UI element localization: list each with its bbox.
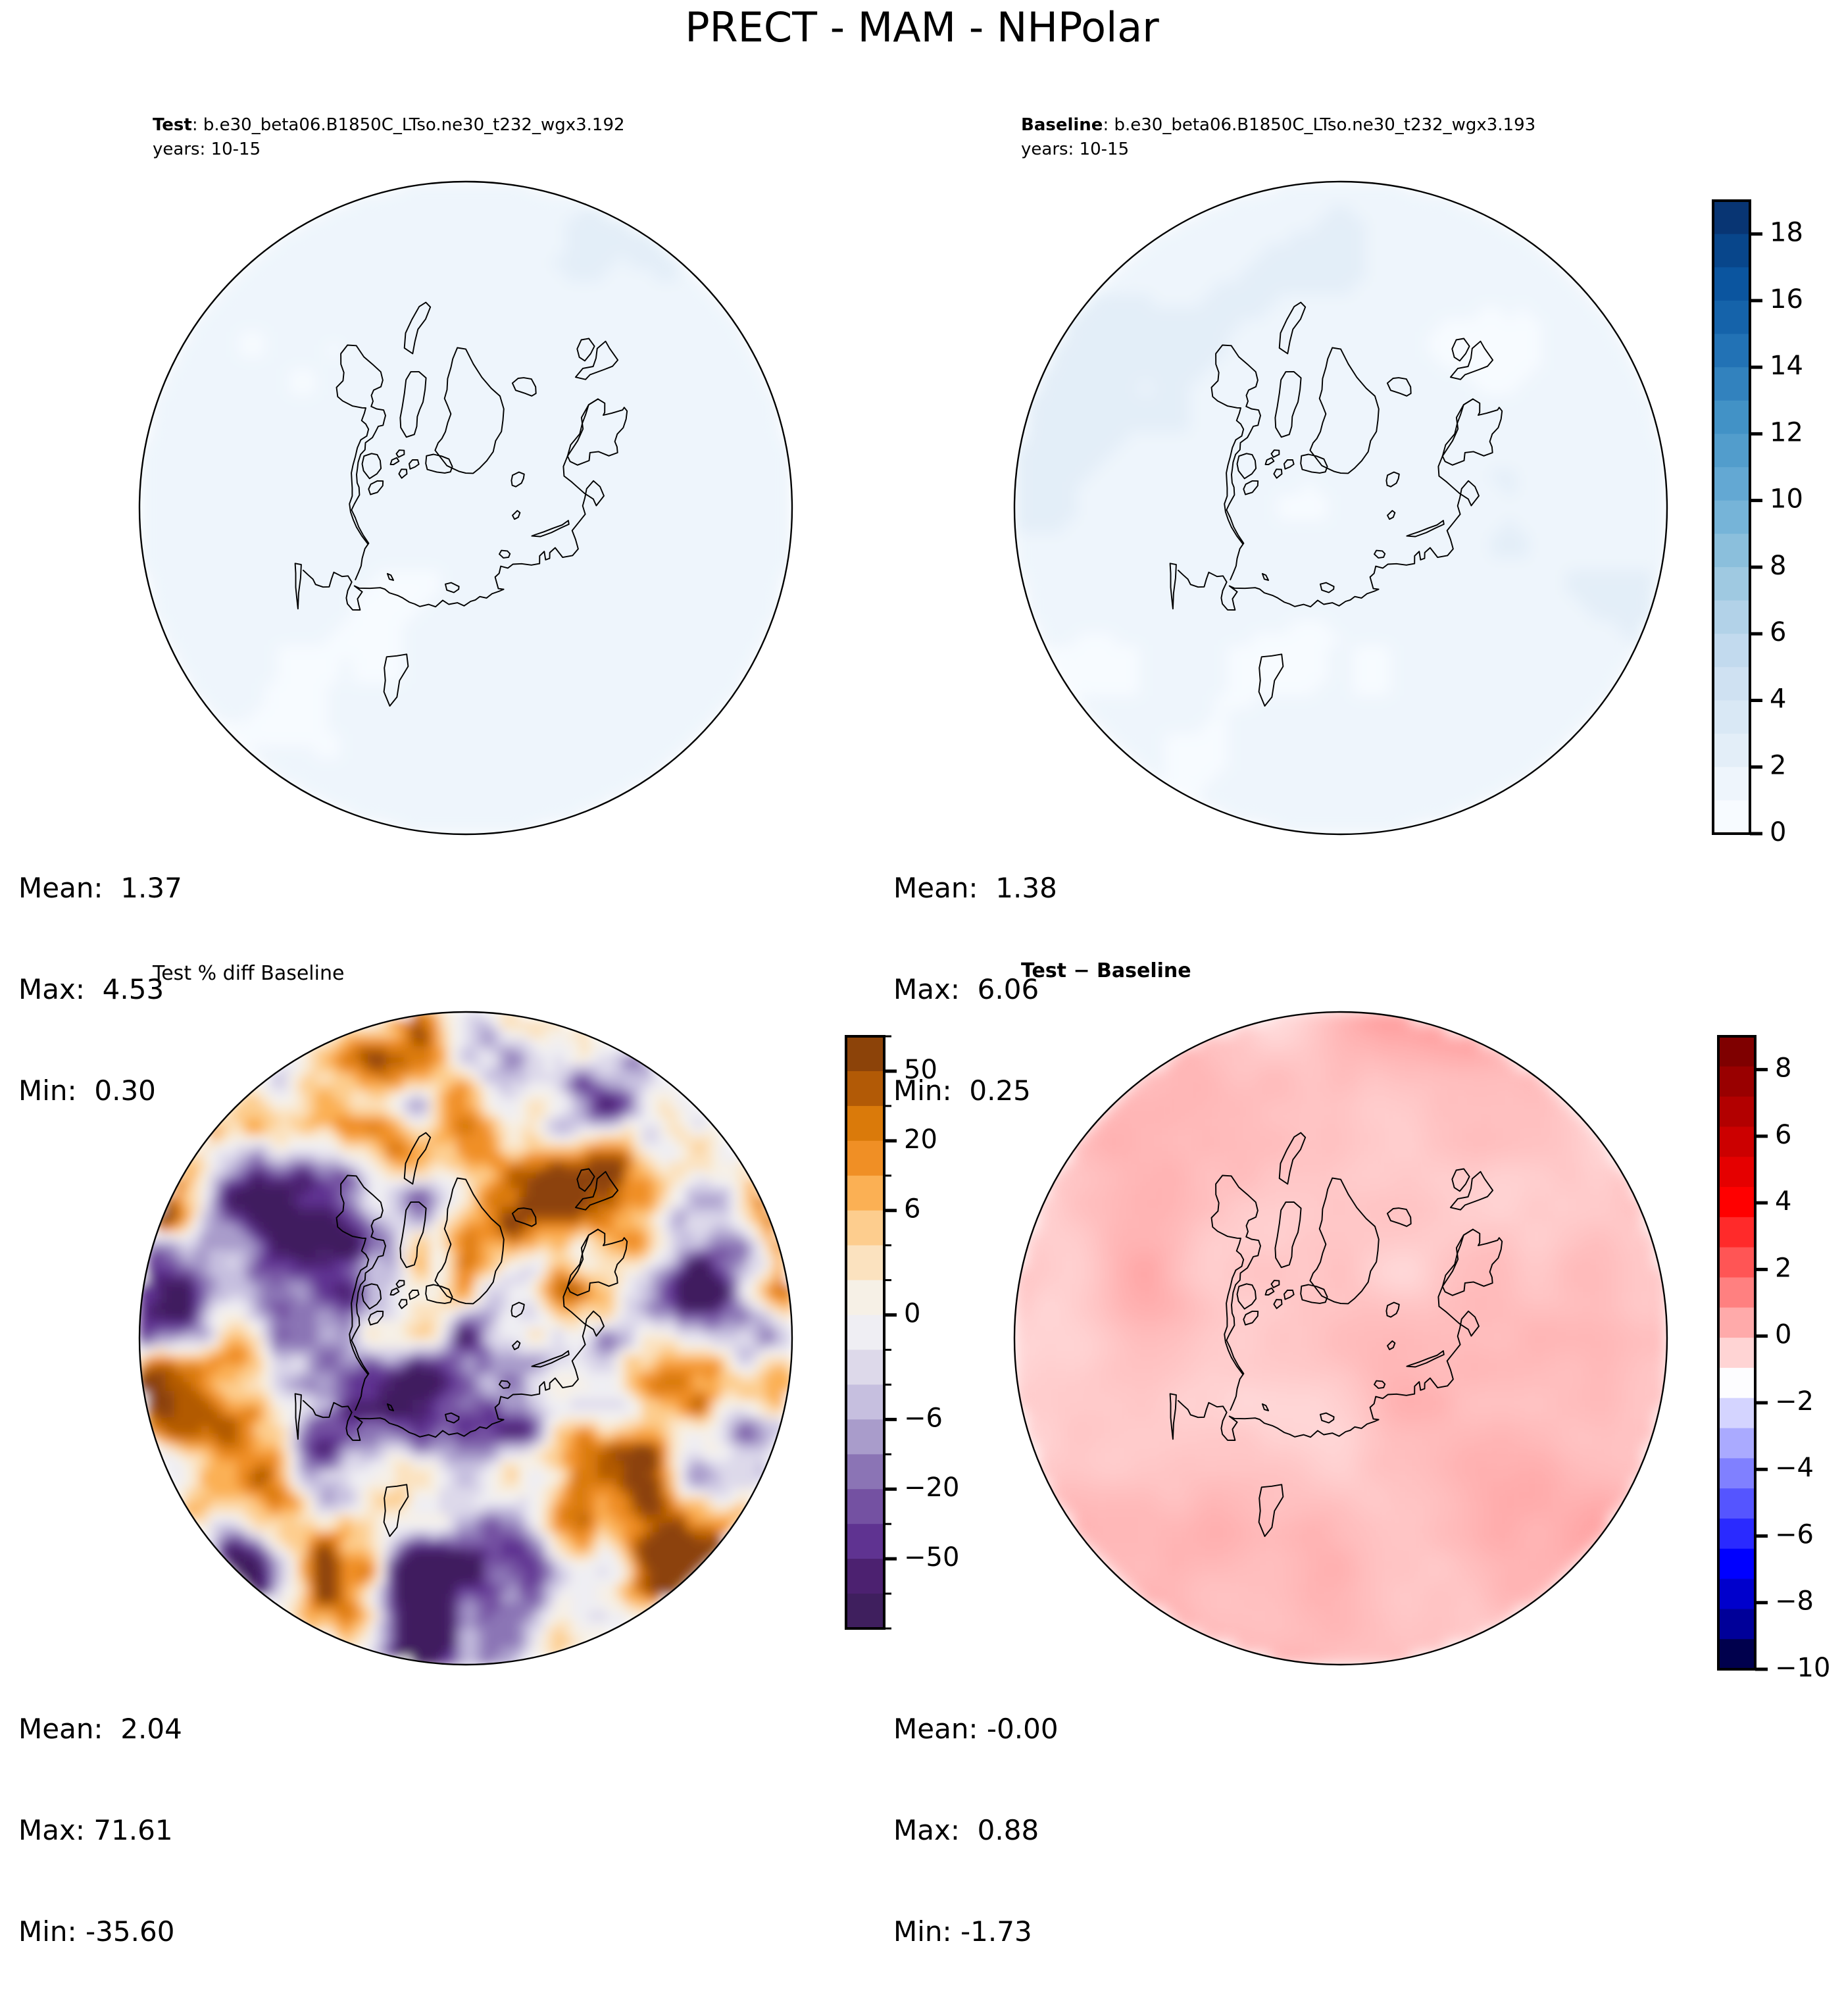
pctdiff-stat-max: Max: 71.61 xyxy=(18,1813,182,1847)
colorbar-band xyxy=(846,1489,884,1525)
colorbar-band xyxy=(846,1349,884,1385)
colorbar-tick-label: −4 xyxy=(1775,1453,1814,1483)
colorbar-band xyxy=(1713,367,1750,401)
colorbar-band xyxy=(1718,1036,1755,1067)
pctdiff-colorbar: 502060−6−20−50 xyxy=(846,1033,979,1632)
colorbar-tick-label: 0 xyxy=(1775,1320,1791,1350)
colorbar-tick-label: 4 xyxy=(1770,684,1786,714)
pctdiff-stat-min: Min: -35.60 xyxy=(18,1915,182,1948)
baseline-years: years: 10-15 xyxy=(1021,138,1535,162)
colorbar-band xyxy=(1713,734,1750,767)
test-map xyxy=(137,179,795,837)
colorbar-band xyxy=(1718,1579,1755,1609)
colorbar-tick-label: 20 xyxy=(904,1124,937,1155)
colorbar-tick-label: −6 xyxy=(904,1403,943,1433)
diff-colorbar: 86420−2−4−6−8−10 xyxy=(1718,1033,1844,1673)
colorbar-band xyxy=(1718,1519,1755,1549)
colorbar-band xyxy=(1718,1307,1755,1338)
colorbar-tick-label: 10 xyxy=(1770,484,1803,515)
colorbar-band xyxy=(1713,467,1750,501)
colorbar-band xyxy=(846,1454,884,1490)
colorbar-tick-label: 8 xyxy=(1775,1053,1791,1084)
colorbar-band xyxy=(846,1036,884,1072)
colorbar-band xyxy=(1718,1458,1755,1488)
colorbar-band xyxy=(846,1594,884,1629)
baseline-separator: : xyxy=(1103,115,1109,135)
colorbar-tick-label: −10 xyxy=(1775,1653,1830,1683)
colorbar-band xyxy=(1718,1157,1755,1187)
colorbar-band xyxy=(1718,1247,1755,1278)
colorbar-band xyxy=(1713,667,1750,701)
test-separator: : xyxy=(192,115,198,135)
colorbar-tick-label: −6 xyxy=(1775,1519,1814,1550)
colorbar-band xyxy=(1718,1368,1755,1398)
diff-stat-min: Min: -1.73 xyxy=(893,1915,1059,1948)
colorbar-band xyxy=(1713,234,1750,268)
colorbar-band xyxy=(1713,401,1750,434)
colorbar-band xyxy=(846,1384,884,1420)
diff-stat-max: Max: 0.88 xyxy=(893,1813,1059,1847)
colorbar-band xyxy=(1713,601,1750,634)
baseline-label: Baseline xyxy=(1021,115,1103,135)
pctdiff-panel-title: Test % diff Baseline xyxy=(153,962,344,985)
colorbar-band xyxy=(1718,1488,1755,1519)
colorbar-band xyxy=(1718,1398,1755,1428)
colorbar-tick-label: 14 xyxy=(1770,351,1803,381)
test-case-name: b.e30_beta06.B1850C_LTso.ne30_t232_wgx3.… xyxy=(203,115,625,135)
test-stat-mean: Mean: 1.37 xyxy=(18,871,182,905)
colorbar-band xyxy=(846,1315,884,1351)
colorbar-band xyxy=(1713,567,1750,601)
colorbar-tick-label: 2 xyxy=(1770,751,1786,781)
diff-stat-mean: Mean: -0.00 xyxy=(893,1712,1059,1746)
colorbar-band xyxy=(1713,767,1750,801)
colorbar-tick-label: 18 xyxy=(1770,218,1803,248)
colorbar-band xyxy=(1718,1097,1755,1127)
colorbar-tick-label: 4 xyxy=(1775,1186,1791,1217)
colorbar-tick-label: 6 xyxy=(1770,617,1786,647)
test-panel-header: Test: b.e30_beta06.B1850C_LTso.ne30_t232… xyxy=(153,113,625,162)
colorbar-band xyxy=(1713,800,1750,834)
colorbar-band xyxy=(1718,1067,1755,1097)
colorbar-tick-label: −20 xyxy=(904,1473,959,1503)
diff-map xyxy=(1012,1009,1670,1667)
colorbar-band xyxy=(1713,634,1750,667)
pctdiff-stat-mean: Mean: 2.04 xyxy=(18,1712,182,1746)
colorbar-band xyxy=(1713,334,1750,368)
colorbar-band xyxy=(1718,1609,1755,1639)
colorbar-tick-label: 12 xyxy=(1770,417,1803,447)
colorbar-band xyxy=(1718,1277,1755,1307)
pctdiff-stats: Mean: 2.04 Max: 71.61 Min: -35.60 xyxy=(18,1645,182,2016)
colorbar-tick-label: −2 xyxy=(1775,1386,1814,1417)
colorbar-band xyxy=(846,1280,884,1316)
pctdiff-map xyxy=(137,1009,795,1667)
colorbar-band xyxy=(1718,1338,1755,1368)
colorbar-tick-label: 6 xyxy=(1775,1120,1791,1150)
colorbar-band xyxy=(1718,1639,1755,1669)
figure-canvas: PRECT - MAM - NHPolar Test: b.e30_beta06… xyxy=(0,0,1844,1755)
colorbar-band xyxy=(1713,267,1750,301)
colorbar-band xyxy=(1713,501,1750,534)
diff-stats: Mean: -0.00 Max: 0.88 Min: -1.73 xyxy=(893,1645,1059,2016)
test-years: years: 10-15 xyxy=(153,138,625,162)
baseline-stat-mean: Mean: 1.38 xyxy=(893,871,1057,905)
colorbar-band xyxy=(1713,201,1750,234)
baseline-map xyxy=(1012,179,1670,837)
figure-title: PRECT - MAM - NHPolar xyxy=(0,5,1844,50)
test-label: Test xyxy=(153,115,192,135)
colorbar-tick-label: 0 xyxy=(1770,817,1786,847)
colorbar-band xyxy=(1718,1126,1755,1157)
colorbar-band xyxy=(846,1211,884,1246)
colorbar-tick-label: 0 xyxy=(904,1299,920,1329)
diff-panel-title: Test − Baseline xyxy=(1021,959,1191,982)
colorbar-band xyxy=(1713,301,1750,334)
colorbar-tick-label: 6 xyxy=(904,1194,920,1224)
baseline-panel-header: Baseline: b.e30_beta06.B1850C_LTso.ne30_… xyxy=(1021,113,1535,162)
colorbar-band xyxy=(1713,534,1750,567)
colorbar-band xyxy=(846,1071,884,1107)
colorbar-band xyxy=(846,1559,884,1594)
colorbar-band xyxy=(846,1176,884,1211)
colorbar-tick-label: 2 xyxy=(1775,1253,1791,1283)
colorbar-band xyxy=(1718,1187,1755,1217)
baseline-case-name: b.e30_beta06.B1850C_LTso.ne30_t232_wgx3.… xyxy=(1114,115,1535,135)
colorbar-band xyxy=(1713,434,1750,467)
colorbar-band xyxy=(846,1106,884,1142)
colorbar-band xyxy=(846,1524,884,1559)
colorbar-band xyxy=(846,1246,884,1281)
colorbar-band xyxy=(1718,1217,1755,1247)
colorbar-band xyxy=(1718,1428,1755,1459)
colorbar-tick-label: 16 xyxy=(1770,284,1803,315)
colorbar-band xyxy=(1718,1549,1755,1579)
colorbar-tick-label: 50 xyxy=(904,1055,937,1085)
main-colorbar: 024681012141618 xyxy=(1713,197,1832,837)
colorbar-tick-label: −50 xyxy=(904,1542,959,1573)
colorbar-band xyxy=(846,1419,884,1455)
colorbar-band xyxy=(1713,700,1750,734)
colorbar-tick-label: −8 xyxy=(1775,1586,1814,1617)
colorbar-tick-label: 8 xyxy=(1770,551,1786,581)
colorbar-band xyxy=(846,1141,884,1176)
